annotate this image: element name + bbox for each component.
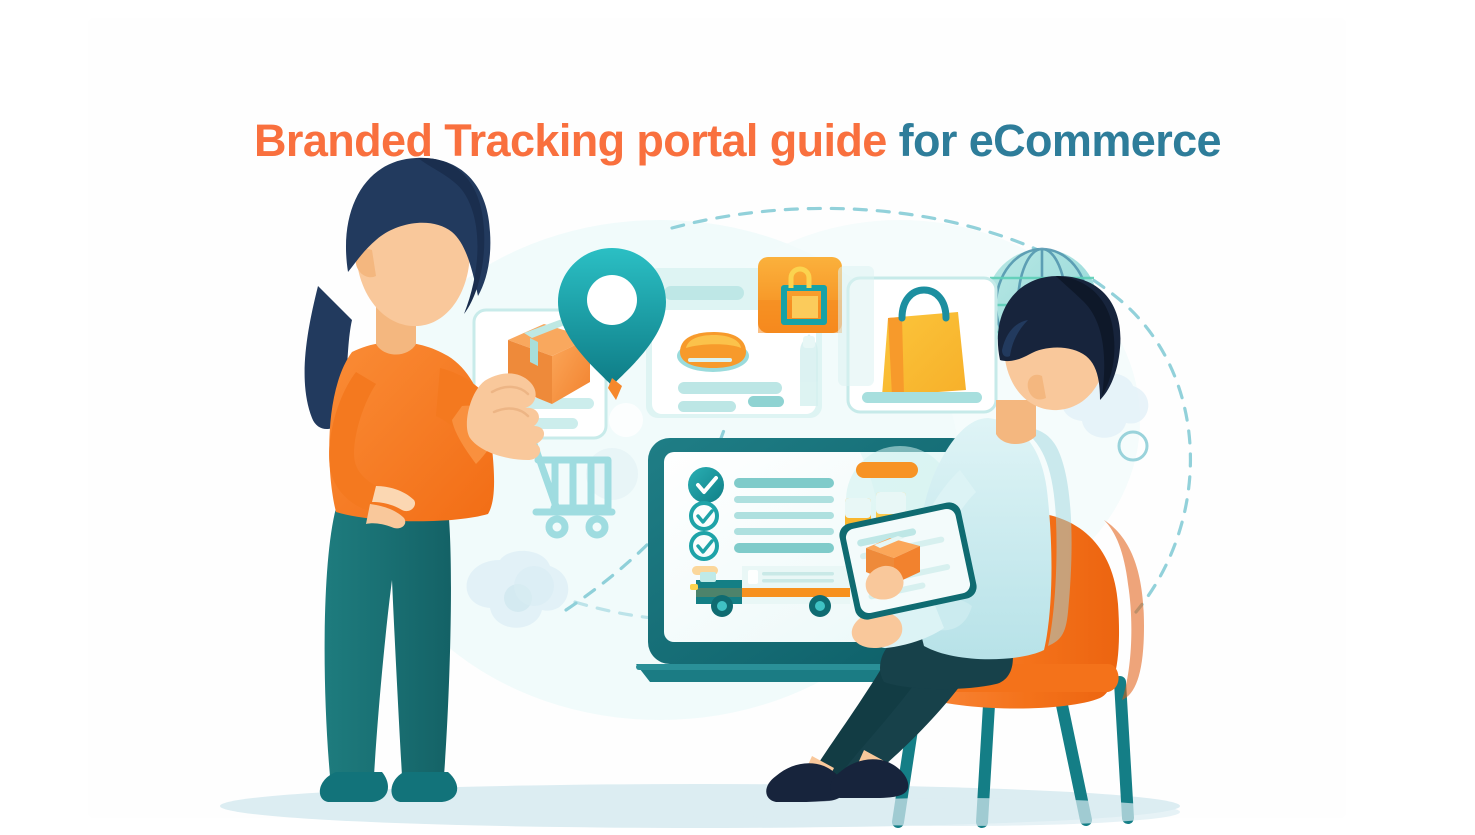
screen-cta-button — [856, 462, 918, 478]
app-icon-card — [758, 257, 842, 333]
illustration-banner: Branded Tracking portal guide for eComme… — [0, 0, 1475, 835]
hero-illustration — [0, 0, 1475, 835]
background-panel — [838, 266, 874, 386]
middle-card-product — [677, 332, 749, 372]
